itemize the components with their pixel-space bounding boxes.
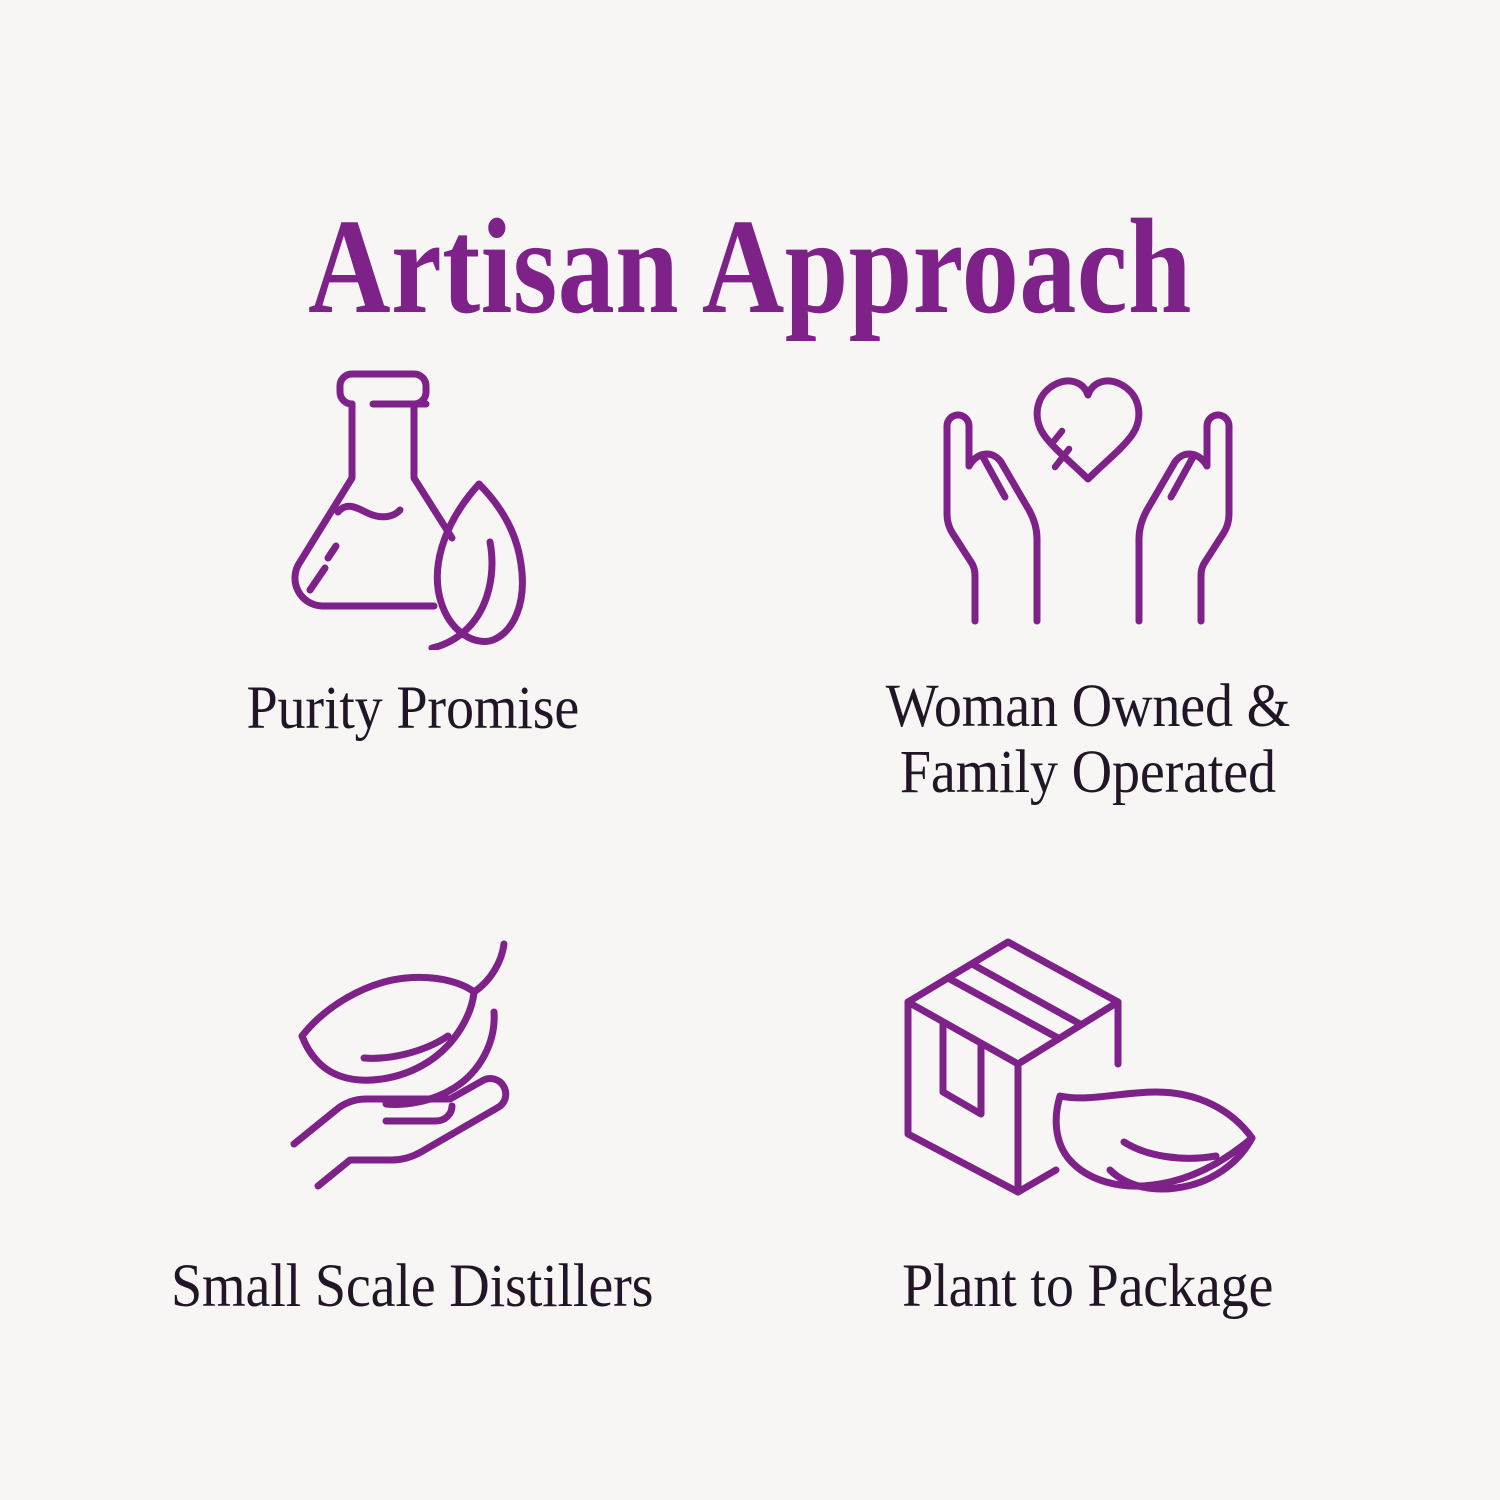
feature-item-woman-owned: Woman Owned & Family Operated bbox=[750, 350, 1425, 910]
feature-item-plant-to-package: Plant to Package bbox=[750, 910, 1425, 1470]
feature-item-purity-promise: Purity Promise bbox=[75, 350, 750, 910]
feature-label: Plant to Package bbox=[902, 1254, 1273, 1320]
box-leaf-icon bbox=[888, 910, 1288, 1220]
page-title: Artisan Approach bbox=[120, 199, 1380, 335]
hands-heart-icon bbox=[928, 350, 1248, 660]
feature-label: Small Scale Distillers bbox=[171, 1254, 653, 1320]
artisan-approach-panel: Artisan Approach bbox=[0, 0, 1500, 1500]
flask-leaf-icon bbox=[278, 350, 548, 660]
feature-grid: Purity Promise bbox=[75, 350, 1425, 1470]
feature-label: Purity Promise bbox=[246, 676, 579, 742]
feature-item-small-scale-distillers: Small Scale Distillers bbox=[75, 910, 750, 1470]
feature-label: Woman Owned & Family Operated bbox=[885, 674, 1290, 806]
leaf-in-hand-icon bbox=[288, 910, 538, 1220]
